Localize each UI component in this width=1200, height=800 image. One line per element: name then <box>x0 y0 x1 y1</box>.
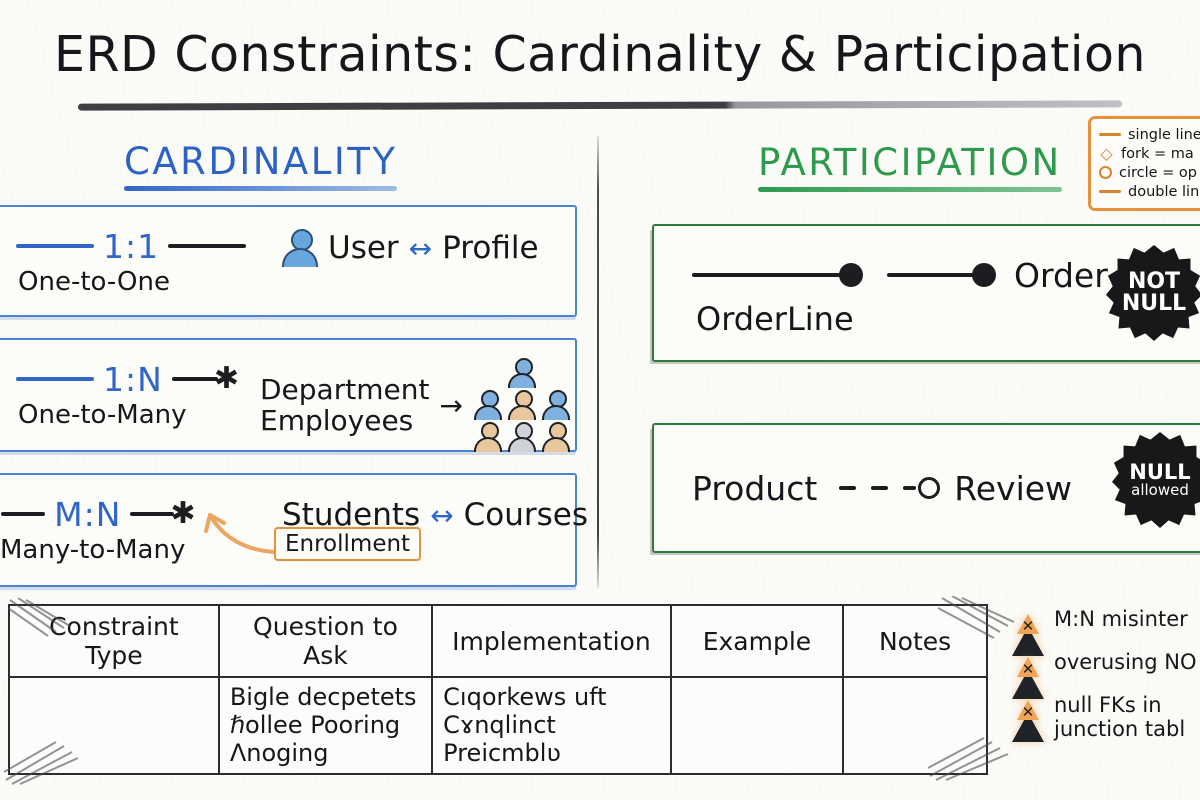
notation-many-to-many: ✱ M:N ✱ <box>0 497 196 531</box>
list-item: ✕ overusing NO <box>1012 651 1200 681</box>
people-group-icon <box>473 358 573 452</box>
participation-entity-orderline: OrderLine <box>696 300 854 338</box>
example-entity-employees: Employees <box>260 405 429 436</box>
blue-line-icon <box>16 377 94 381</box>
participation-entity-order: Order <box>1014 256 1108 295</box>
section-divider <box>597 136 599 588</box>
status-badge-not-null: NOT NULL <box>1106 245 1200 341</box>
constraints-summary-table: Constraint Type Question to Ask Implemen… <box>8 604 988 774</box>
dashed-segment-icon <box>871 486 888 490</box>
table-row: Bigle decpetets ℏollee Pooring Λnoging C… <box>9 677 987 774</box>
legend-label: single line <box>1128 127 1200 143</box>
cell-implementation: Cıqorkews uft Cɤnqlinct Preicmblʋ <box>432 677 671 774</box>
participation-heading-label: PARTICIPATION <box>758 141 1062 184</box>
table: Constraint Type Question to Ask Implemen… <box>8 604 988 775</box>
legend-item-single-line: single line <box>1099 125 1200 144</box>
crowsfoot-icon: ✱ <box>214 364 239 394</box>
legend-item-circle: circle = op <box>1099 163 1200 182</box>
black-line-icon <box>130 512 174 516</box>
right-arrow-icon: → <box>439 389 462 422</box>
fork-icon: ◇ <box>1099 146 1114 161</box>
status-badge-null-allowed: NULL allowed <box>1112 432 1200 528</box>
warning-label: null FKs in junction tabl <box>1054 694 1185 741</box>
warning-triangle-icon: ✕ <box>1012 694 1044 724</box>
list-item: ✕ null FKs in junction tabl <box>1012 694 1200 741</box>
column-header-implementation: Implementation <box>432 605 671 677</box>
warning-triangle-icon: ✕ <box>1012 651 1044 681</box>
solid-line-icon <box>692 273 842 277</box>
cardinality-row-one-to-many: 1:N ✱ One-to-Many Department Employees → <box>0 338 577 452</box>
section-heading-cardinality: CARDINALITY <box>124 140 397 191</box>
black-line-icon <box>172 377 218 381</box>
badge-line-2: NULL <box>1122 293 1186 315</box>
example-entity-user: User <box>328 230 399 266</box>
warning-triangle-icon: ✕ <box>1012 608 1044 638</box>
person-icon <box>473 422 503 452</box>
filled-dot-icon <box>972 263 996 287</box>
crowsfoot-icon: ✱ <box>170 499 195 529</box>
cardinality-row-one-to-one: 1:1 One-to-One User ↔ Profile <box>0 205 577 317</box>
column-header-notes: Notes <box>843 605 987 677</box>
ratio-label-1-1: 1:1 <box>103 230 159 263</box>
legend-label: circle = op <box>1119 165 1197 181</box>
example-entity-profile: Profile <box>442 230 538 266</box>
bidirectional-arrow-icon: ↔ <box>409 232 432 265</box>
column-header-example: Example <box>671 605 843 677</box>
example-entity-students: Students <box>282 497 420 533</box>
cardinality-label-many-to-many: Many-to-Many <box>0 535 185 565</box>
section-heading-participation: PARTICIPATION <box>758 141 1062 192</box>
person-icon <box>507 422 537 452</box>
column-header-constraint-type: Constraint Type <box>9 605 219 677</box>
example-entity-department: Department <box>260 374 429 405</box>
cardinality-label-one-to-one: One-to-One <box>18 267 170 297</box>
participation-row-partial: Product Review <box>652 423 1200 553</box>
column-header-question-to-ask: Question to Ask <box>219 605 432 677</box>
person-icon <box>473 390 503 420</box>
warning-label: overusing NO <box>1054 651 1196 675</box>
cell-notes <box>843 677 987 774</box>
dashed-segment-icon <box>903 486 916 490</box>
ratio-label-m-n: M:N <box>54 498 121 531</box>
cardinality-heading-label: CARDINALITY <box>124 140 397 183</box>
cardinality-label-one-to-many: One-to-Many <box>18 400 187 430</box>
black-line-icon <box>1 512 45 516</box>
single-line-icon <box>1099 133 1121 136</box>
warning-label: M:N misinter <box>1054 608 1188 632</box>
cell-example <box>671 677 843 774</box>
legend-label: fork = ma <box>1121 146 1194 162</box>
filled-dot-icon <box>839 263 863 287</box>
legend-item-fork: ◇ fork = ma <box>1099 144 1200 163</box>
badge-line-1: NULL <box>1129 462 1190 483</box>
cardinality-row-many-to-many: ✱ M:N ✱ Many-to-Many Enrollment Students… <box>0 473 577 587</box>
black-line-icon <box>168 244 246 248</box>
person-icon <box>507 390 537 420</box>
cardinality-heading-underline <box>124 186 397 191</box>
table-header-row: Constraint Type Question to Ask Implemen… <box>9 605 987 677</box>
title-underline <box>78 100 1122 110</box>
ratio-label-1-n: 1:N <box>103 363 163 396</box>
badge-line-1: NOT <box>1128 271 1180 293</box>
solid-line-icon <box>887 273 975 277</box>
person-icon <box>541 390 571 420</box>
blue-line-icon <box>16 244 94 248</box>
double-line-icon <box>1099 190 1121 193</box>
person-icon <box>541 422 571 452</box>
notation-legend: single line ◇ fork = ma circle = op doub… <box>1088 116 1200 211</box>
circle-icon <box>1099 166 1112 179</box>
example-entity-courses: Courses <box>464 497 588 533</box>
badge-line-2: allowed <box>1131 483 1189 498</box>
dashed-segment-icon <box>839 486 856 490</box>
pitfalls-list: ✕ M:N misinter ✕ overusing NO ✕ null FKs… <box>1012 608 1200 754</box>
cell-question-to-ask: Bigle decpetets ℏollee Pooring Λnoging <box>219 677 432 774</box>
person-icon <box>507 358 537 388</box>
page-title: ERD Constraints: Cardinality & Participa… <box>0 26 1200 83</box>
participation-entity-product: Product <box>692 469 817 508</box>
notation-one-to-many: 1:N ✱ <box>16 362 239 396</box>
user-avatar-icon <box>282 229 318 267</box>
bidirectional-arrow-icon: ↔ <box>430 499 453 532</box>
participation-entity-review: Review <box>954 469 1072 508</box>
open-circle-icon <box>918 477 940 499</box>
notation-one-to-one: 1:1 <box>16 229 246 263</box>
legend-item-double-line: double lin <box>1099 182 1200 201</box>
list-item: ✕ M:N misinter <box>1012 608 1200 638</box>
legend-label: double lin <box>1128 184 1199 200</box>
participation-heading-underline <box>758 187 1062 192</box>
cell-constraint-type <box>9 677 219 774</box>
